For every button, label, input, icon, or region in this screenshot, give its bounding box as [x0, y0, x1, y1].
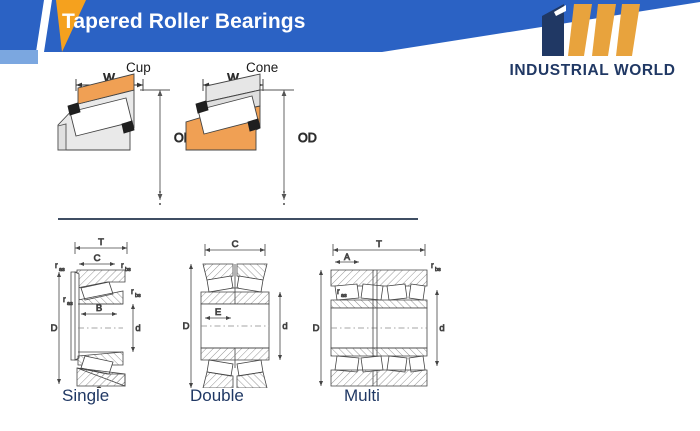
double-label-E: E — [215, 307, 221, 318]
logo-w-stroke-1-icon — [568, 4, 592, 56]
double-bearing-diagram: C — [183, 239, 288, 388]
company-logo: INDUSTRIAL WORLD — [490, 2, 695, 88]
cup-cone-figures: Cup Cone W — [48, 60, 378, 210]
single-label-r-bs-2-sub: bs — [135, 293, 141, 299]
single-label-r-bs: r — [121, 261, 124, 270]
cone-title: Cone — [246, 60, 278, 75]
single-label-r-as: r — [55, 261, 58, 270]
multi-label-d: d — [439, 323, 444, 334]
single-label-C: C — [94, 253, 101, 264]
logo-mark-iw-icon — [536, 2, 656, 60]
cup-od-dimension: OD — [140, 90, 193, 205]
double-label-D: D — [183, 321, 190, 332]
cup-diagram: W — [58, 71, 143, 150]
multi-label-T: T — [376, 239, 382, 250]
multi-bearing-diagram: T A — [313, 239, 445, 386]
section-divider — [58, 218, 418, 220]
cone-diagram: W — [186, 71, 263, 150]
caption-single: Single — [62, 386, 109, 406]
single-label-T: T — [98, 237, 104, 248]
bearing-cross-sections: T C — [45, 228, 465, 388]
multi-label-D: D — [313, 323, 320, 334]
cup-title: Cup — [126, 60, 151, 75]
single-label-r-as-sub: as — [59, 267, 65, 273]
single-label-B: B — [96, 303, 102, 314]
logo-w-stroke-2-icon — [592, 4, 616, 56]
single-label-d: d — [135, 323, 140, 334]
single-label-D: D — [51, 323, 58, 334]
single-bearing-diagram: T C — [51, 237, 141, 388]
page-title: Tapered Roller Bearings — [62, 10, 305, 34]
cone-od-dimension: OD — [260, 90, 317, 205]
company-name: INDUSTRIAL WORLD — [490, 62, 695, 80]
logo-w-stroke-3-icon — [616, 4, 640, 56]
multi-label-r-bs: r — [431, 261, 434, 270]
single-label-r-bs-sub: bs — [125, 267, 131, 273]
cone-od-label: OD — [298, 131, 317, 145]
caption-double: Double — [190, 386, 244, 406]
single-label-r-bs-2: r — [131, 287, 134, 296]
double-label-d: d — [282, 321, 287, 332]
multi-label-r-as: r — [337, 287, 340, 296]
header-light-strip — [0, 50, 38, 64]
caption-multi: Multi — [344, 386, 380, 406]
single-label-r-as-2: r — [63, 295, 66, 304]
double-label-C: C — [232, 239, 239, 250]
cup-cone-drawing: W — [48, 60, 378, 210]
multi-label-A: A — [344, 252, 350, 262]
multi-label-r-as-sub: as — [341, 293, 347, 299]
single-label-r-as-2-sub: as — [67, 301, 73, 307]
multi-label-r-bs-sub: bs — [435, 267, 441, 273]
slide-page: Tapered Roller Bearings INDUSTRIAL WORLD… — [0, 0, 700, 431]
